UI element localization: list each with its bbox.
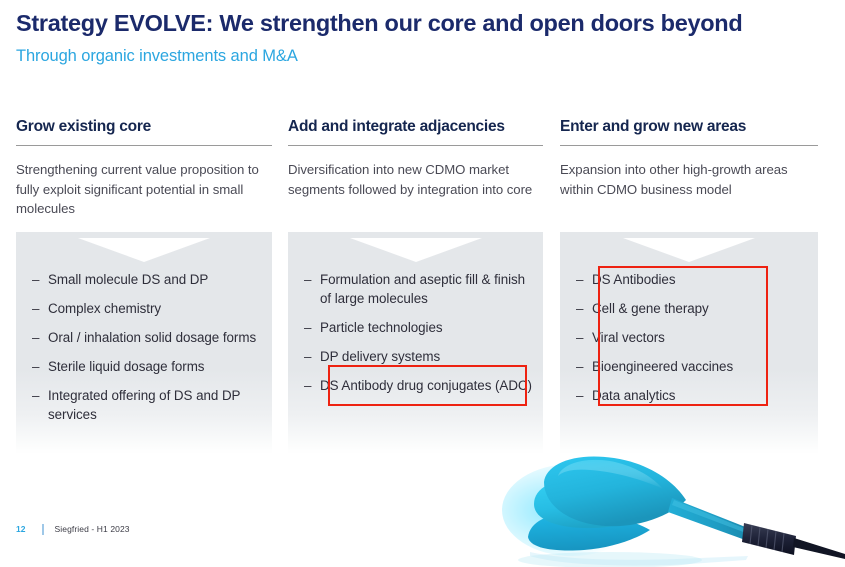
bullet-text: DS Antibody drug conjugates (ADC) bbox=[320, 376, 533, 395]
column-grow-existing-core: Grow existing core Strengthening current… bbox=[16, 118, 272, 219]
list-item: – DP delivery systems bbox=[300, 347, 533, 366]
list-item: – Sterile liquid dosage forms bbox=[28, 357, 262, 376]
bullet-text: Small molecule DS and DP bbox=[48, 270, 262, 289]
slide-title-block: Strategy EVOLVE: We strengthen our core … bbox=[16, 10, 836, 67]
page-subtitle: Through organic investments and M&A bbox=[16, 47, 836, 67]
column-description: Diversification into new CDMO market seg… bbox=[288, 160, 543, 199]
bullet-text: Oral / inhalation solid dosage forms bbox=[48, 328, 262, 347]
list-item: – Small molecule DS and DP bbox=[28, 270, 262, 289]
list-item: – Integrated offering of DS and DP servi… bbox=[28, 386, 262, 424]
bullet-text: Particle technologies bbox=[320, 318, 533, 337]
bullet-dash: – bbox=[572, 299, 592, 318]
column-description: Strengthening current value proposition … bbox=[16, 160, 272, 219]
bullet-text: Sterile liquid dosage forms bbox=[48, 357, 262, 376]
bullet-list: – Small molecule DS and DP – Complex che… bbox=[16, 270, 272, 424]
column-enter-grow-new-areas: Enter and grow new areas Expansion into … bbox=[560, 118, 818, 199]
bullet-dash: – bbox=[572, 270, 592, 289]
bullet-text: Integrated offering of DS and DP service… bbox=[48, 386, 262, 424]
list-item: – Particle technologies bbox=[300, 318, 533, 337]
list-item: – Data analytics bbox=[572, 386, 808, 405]
footer-text: Siegfried - H1 2023 bbox=[55, 524, 130, 534]
column-description: Expansion into other high-growth areas w… bbox=[560, 160, 818, 199]
column-header: Grow existing core bbox=[16, 118, 272, 137]
bullet-text: Viral vectors bbox=[592, 328, 808, 347]
bullet-dash: – bbox=[28, 386, 48, 405]
list-item: – DS Antibodies bbox=[572, 270, 808, 289]
column-header: Add and integrate adjacencies bbox=[288, 118, 543, 137]
chevron-down-icon bbox=[623, 238, 755, 262]
bullet-list: – Formulation and aseptic fill & finish … bbox=[288, 270, 543, 395]
footer-page-number: 12 bbox=[16, 524, 42, 534]
bullet-text: DP delivery systems bbox=[320, 347, 533, 366]
list-item: – Viral vectors bbox=[572, 328, 808, 347]
bullet-dash: – bbox=[28, 357, 48, 376]
bullet-text: DS Antibodies bbox=[592, 270, 808, 289]
bullet-dash: – bbox=[28, 328, 48, 347]
list-item: – Cell & gene therapy bbox=[572, 299, 808, 318]
page-title: Strategy EVOLVE: We strengthen our core … bbox=[16, 10, 836, 37]
bullet-text: Complex chemistry bbox=[48, 299, 262, 318]
chevron-down-icon bbox=[78, 238, 210, 262]
list-item: – DS Antibody drug conjugates (ADC) bbox=[300, 376, 533, 395]
bullet-text: Cell & gene therapy bbox=[592, 299, 808, 318]
panel-add-integrate-adjacencies: – Formulation and aseptic fill & finish … bbox=[288, 232, 543, 454]
footer-separator bbox=[42, 524, 44, 535]
bullet-dash: – bbox=[572, 328, 592, 347]
column-header: Enter and grow new areas bbox=[560, 118, 818, 137]
list-item: – Formulation and aseptic fill & finish … bbox=[300, 270, 533, 308]
column-divider bbox=[560, 145, 818, 147]
bullet-list: – DS Antibodies – Cell & gene therapy – … bbox=[560, 270, 818, 405]
bullet-dash: – bbox=[572, 357, 592, 376]
panel-enter-grow-new-areas: – DS Antibodies – Cell & gene therapy – … bbox=[560, 232, 818, 454]
bullet-text: Data analytics bbox=[592, 386, 808, 405]
bullet-dash: – bbox=[28, 270, 48, 289]
columns-container: Grow existing core Strengthening current… bbox=[0, 118, 845, 458]
column-add-integrate-adjacencies: Add and integrate adjacencies Diversific… bbox=[288, 118, 543, 199]
bullet-dash: – bbox=[300, 347, 320, 366]
panel-grow-existing-core: – Small molecule DS and DP – Complex che… bbox=[16, 232, 272, 454]
bullet-dash: – bbox=[300, 376, 320, 395]
bullet-dash: – bbox=[572, 386, 592, 405]
chevron-down-icon bbox=[350, 238, 482, 262]
column-divider bbox=[16, 145, 272, 147]
list-item: – Bioengineered vaccines bbox=[572, 357, 808, 376]
bullet-text: Formulation and aseptic fill & finish of… bbox=[320, 270, 533, 308]
bullet-dash: – bbox=[300, 318, 320, 337]
bullet-dash: – bbox=[300, 270, 320, 289]
list-item: – Oral / inhalation solid dosage forms bbox=[28, 328, 262, 347]
column-divider bbox=[288, 145, 543, 147]
bullet-dash: – bbox=[28, 299, 48, 318]
list-item: – Complex chemistry bbox=[28, 299, 262, 318]
bullet-text: Bioengineered vaccines bbox=[592, 357, 808, 376]
footer: 12 Siegfried - H1 2023 bbox=[16, 522, 130, 536]
